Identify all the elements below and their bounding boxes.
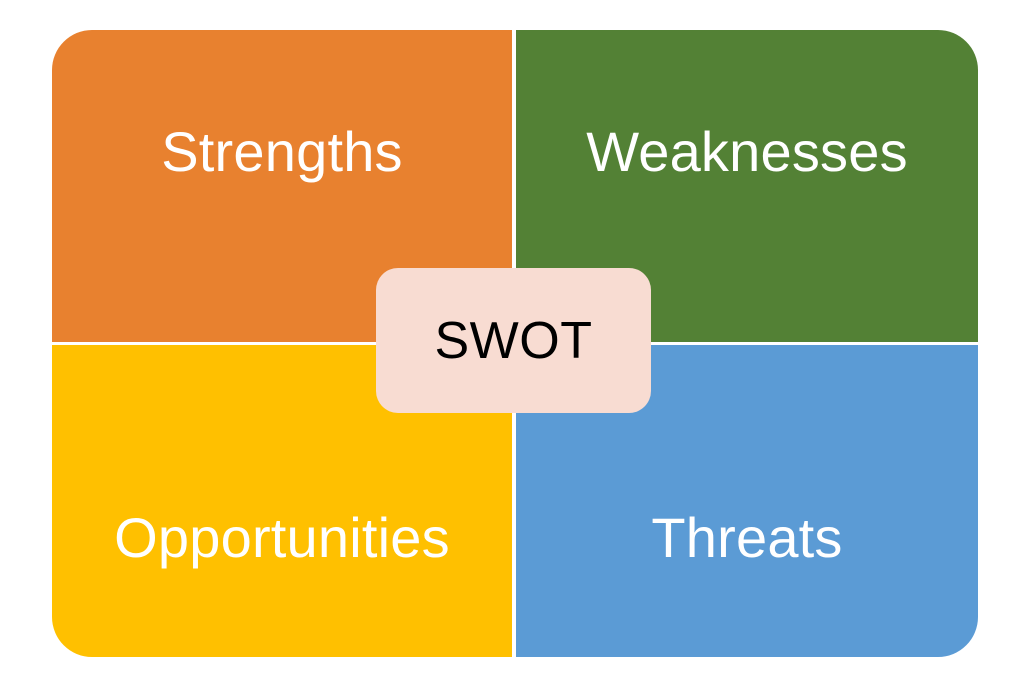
swot-center-label: SWOT <box>435 315 593 367</box>
swot-quadrant-strengths-label: Strengths <box>161 124 403 180</box>
swot-quadrant-threats-label: Threats <box>651 510 842 566</box>
swot-quadrant-weaknesses-label: Weaknesses <box>586 124 908 180</box>
swot-diagram: Strengths Weaknesses Opportunities Threa… <box>52 30 978 657</box>
swot-center-box[interactable]: SWOT <box>376 268 651 413</box>
swot-quadrant-opportunities-label: Opportunities <box>114 510 450 566</box>
